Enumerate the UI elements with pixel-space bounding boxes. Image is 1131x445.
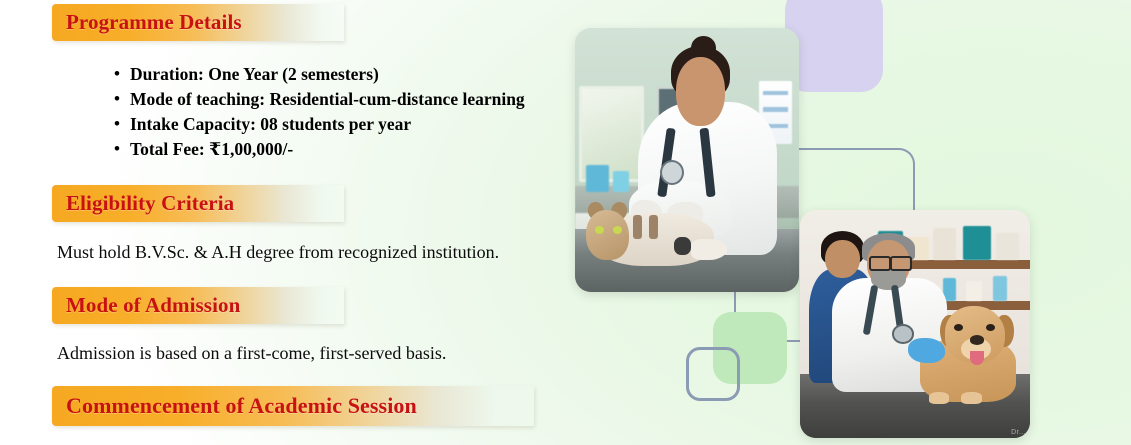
list-item: Duration: One Year (2 semesters) <box>112 62 525 87</box>
supply-bottle <box>586 165 608 191</box>
supply-box <box>996 233 1019 260</box>
vet-hair-bun <box>691 36 716 60</box>
decorative-lavender-rounded-square <box>785 0 883 92</box>
cat-stripe <box>633 215 642 239</box>
photo-dog-scene <box>800 210 1030 438</box>
left-content-column: Programme Details Duration: One Year (2 … <box>0 0 575 445</box>
dog-nose <box>970 335 984 344</box>
mode-of-admission-text: Admission is based on a first-come, firs… <box>57 343 446 364</box>
dog-eye <box>954 324 963 331</box>
section-heading-label: Commencement of Academic Session <box>52 393 417 419</box>
list-item: Mode of teaching: Residential-cum-distan… <box>112 87 525 112</box>
section-heading-mode-of-admission: Mode of Admission <box>52 287 344 324</box>
eligibility-criteria-text: Must hold B.V.Sc. & A.H degree from reco… <box>57 242 499 263</box>
programme-details-bullet-list: Duration: One Year (2 semesters) Mode of… <box>112 62 525 162</box>
cat-head <box>586 210 629 260</box>
section-heading-commencement: Commencement of Academic Session <box>52 386 534 426</box>
dog-paw <box>929 392 950 403</box>
supply-bottle <box>993 276 1007 301</box>
dog-tongue <box>970 351 984 365</box>
decorative-outlined-rounded-square <box>686 347 740 401</box>
vet-head <box>676 57 725 126</box>
eyeglasses-lens-right <box>890 256 912 271</box>
supply-bottle <box>966 281 982 302</box>
eyeglasses-lens-left <box>869 256 891 271</box>
photo-vet-with-dog: Dr... <box>800 210 1030 438</box>
photo-collage: Dr... <box>575 0 1131 445</box>
section-heading-eligibility-criteria: Eligibility Criteria <box>52 185 344 222</box>
cat-eye <box>613 226 622 234</box>
supply-bottle <box>613 171 629 192</box>
vet-blue-glove <box>908 338 945 363</box>
supply-box <box>933 228 956 260</box>
poster-line <box>763 91 789 95</box>
poster-line <box>763 107 789 111</box>
list-item: Intake Capacity: 08 students per year <box>112 112 525 137</box>
photo-cat-scene <box>575 28 799 292</box>
slide-canvas: Programme Details Duration: One Year (2 … <box>0 0 1131 445</box>
section-heading-label: Programme Details <box>52 10 242 35</box>
image-watermark: Dr... <box>1011 429 1026 436</box>
cat-leg-marking <box>674 237 692 255</box>
dog-paw <box>961 392 982 403</box>
section-heading-label: Mode of Admission <box>52 293 240 318</box>
section-heading-programme-details: Programme Details <box>52 4 344 41</box>
supply-box <box>963 226 991 260</box>
photo-vet-with-cat <box>575 28 799 292</box>
list-item: Total Fee: ₹1,00,000/- <box>112 137 525 162</box>
section-heading-label: Eligibility Criteria <box>52 191 234 216</box>
assistant-head <box>825 240 860 279</box>
cat-stripe <box>649 215 658 239</box>
cat-eye <box>595 226 604 234</box>
connector-line-top <box>793 148 915 216</box>
